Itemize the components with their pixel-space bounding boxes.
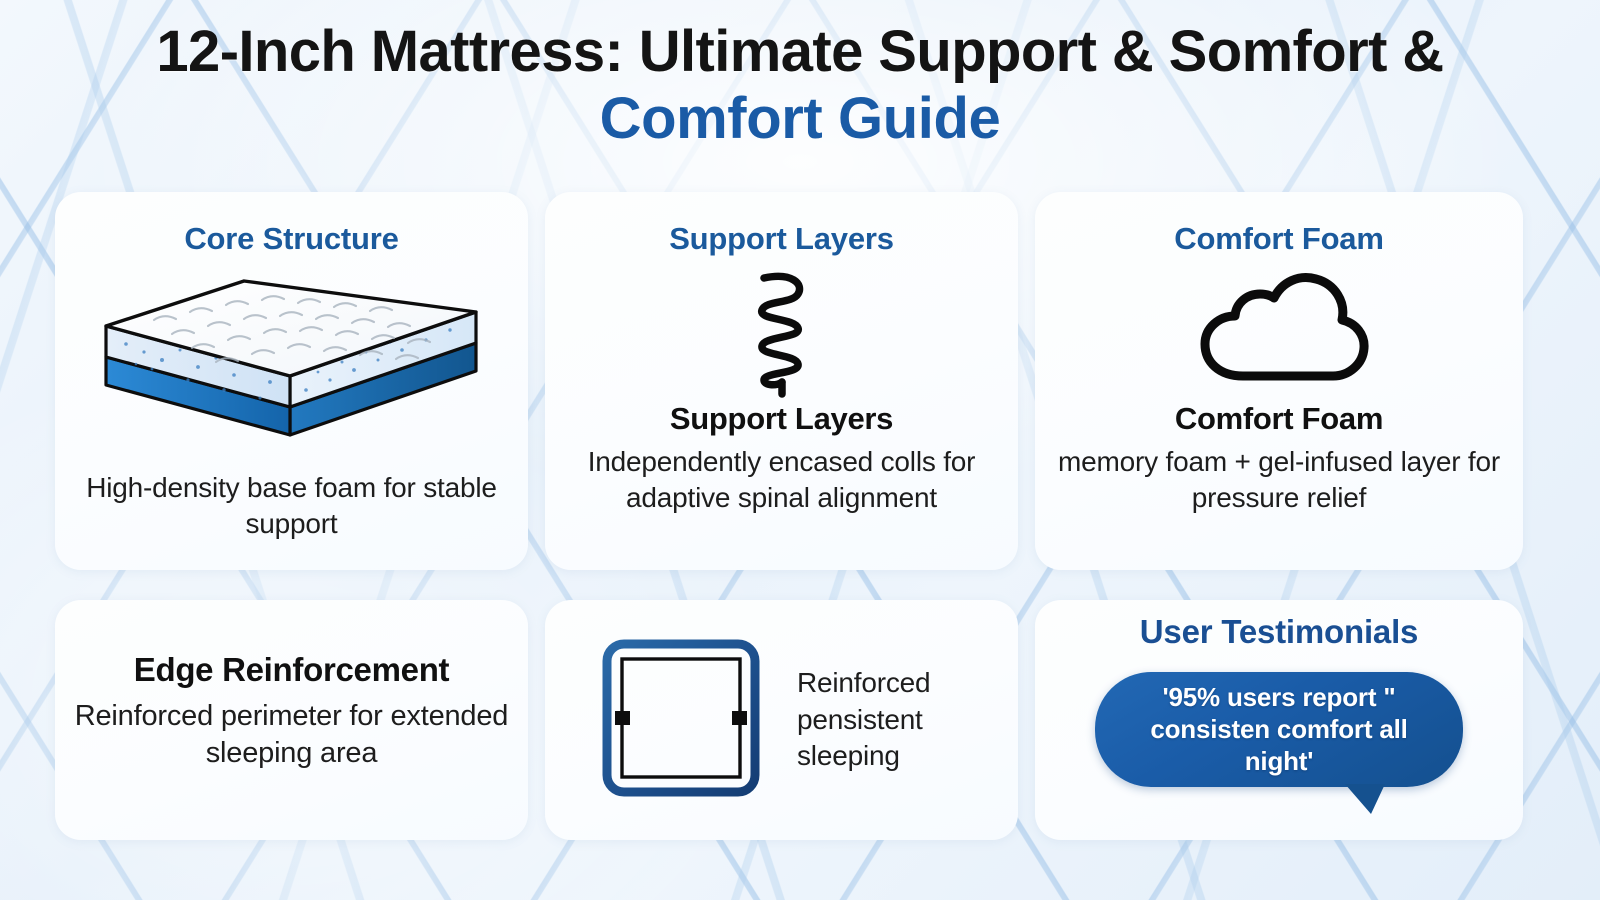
card-core-structure-caption: High-density base foam for stable suppor… xyxy=(73,470,510,542)
cloud-icon xyxy=(1179,268,1379,398)
speech-bubble-tail xyxy=(1345,784,1385,814)
card-edge-reinforcement-title: Edge Reinforcement xyxy=(134,652,450,688)
testimonial-quote-line-2: consisten comfort all night' xyxy=(1150,714,1407,776)
coil-spring-icon xyxy=(742,264,822,400)
card-support-layers[interactable]: Support Layers Support Layers Independen… xyxy=(545,192,1018,570)
card-user-testimonials-header: User Testimonials xyxy=(1140,614,1418,650)
card-grid: Core Structure xyxy=(55,192,1545,840)
testimonial-quote: '95% users report " consisten comfort al… xyxy=(1095,672,1463,787)
speech-bubble-icon: '95% users report " consisten comfort al… xyxy=(1095,672,1463,787)
card-comfort-foam[interactable]: Comfort Foam Comfort Foam memory foam + … xyxy=(1035,192,1523,570)
card-edge-reinforcement[interactable]: Edge Reinforcement Reinforced perimeter … xyxy=(55,600,528,840)
title-line-primary: 12-Inch Mattress: Ultimate Support & Som… xyxy=(0,22,1600,81)
card-edge-reinforcement-caption: Reinforced perimeter for extended sleepi… xyxy=(73,698,510,772)
card-core-structure-header: Core Structure xyxy=(184,222,398,256)
card-core-structure[interactable]: Core Structure xyxy=(55,192,528,570)
card-support-layers-caption: Independently encased colls for adaptive… xyxy=(563,444,1000,516)
infographic-canvas: 12-Inch Mattress: Ultimate Support & Som… xyxy=(0,0,1600,900)
testimonial-quote-line-1: '95% users report " xyxy=(1163,682,1396,712)
page-title: 12-Inch Mattress: Ultimate Support & Som… xyxy=(0,22,1600,152)
card-reinforced-frame[interactable]: Reinforced pensistent sleeping xyxy=(545,600,1018,840)
card-reinforced-frame-caption: Reinforced pensistent sleeping xyxy=(797,665,996,774)
card-support-layers-header: Support Layers xyxy=(669,222,894,256)
card-comfort-foam-caption: memory foam + gel-infused layer for pres… xyxy=(1053,444,1505,516)
title-line-secondary: Comfort Guide xyxy=(0,87,1600,152)
card-comfort-foam-subtitle: Comfort Foam xyxy=(1175,402,1383,436)
edge-frame-icon xyxy=(599,636,763,805)
mattress-illustration xyxy=(92,272,492,444)
card-comfort-foam-header: Comfort Foam xyxy=(1174,222,1383,256)
card-support-layers-subtitle: Support Layers xyxy=(670,402,893,436)
card-user-testimonials[interactable]: User Testimonials '95% users report " co… xyxy=(1035,600,1523,840)
